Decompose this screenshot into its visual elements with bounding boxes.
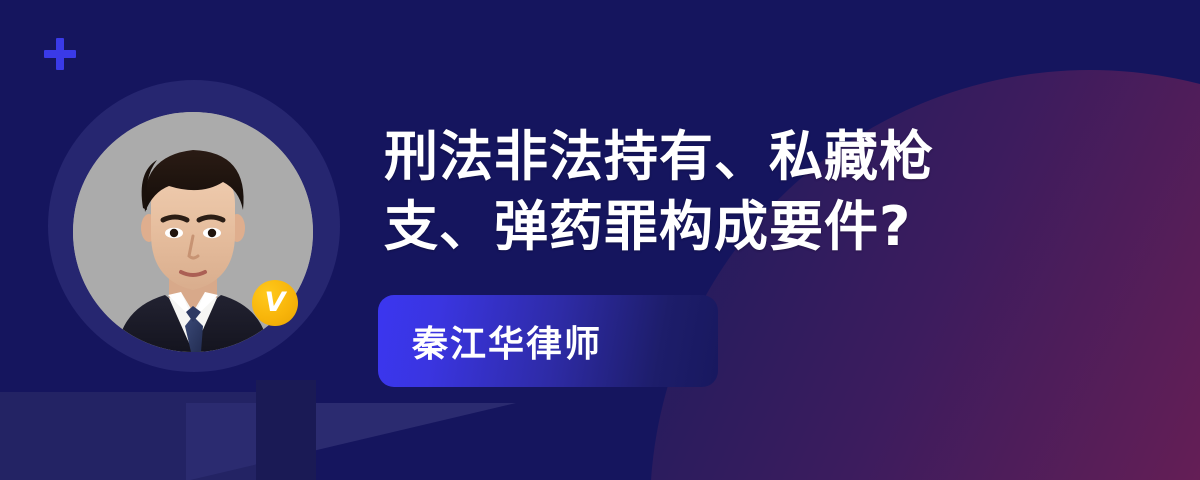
avatar[interactable]: V	[48, 80, 340, 372]
article-cover-banner: V 刑法非法持有、私藏枪 支、弹药罪构成要件? 秦江华律师	[0, 0, 1200, 480]
geo-rectangle-left	[0, 392, 260, 480]
geo-vertical-band	[256, 380, 316, 480]
plus-icon	[44, 38, 76, 70]
author-badge[interactable]: 秦江华律师	[378, 295, 718, 387]
verified-badge-mark: V	[265, 289, 286, 316]
verified-badge-icon: V	[252, 280, 298, 326]
page-title: 刑法非法持有、私藏枪 支、弹药罪构成要件?	[384, 122, 1044, 262]
geo-triangle-bottom-left	[186, 403, 516, 480]
headline-block: 刑法非法持有、私藏枪 支、弹药罪构成要件?	[384, 122, 1044, 262]
author-name: 秦江华律师	[412, 315, 602, 367]
